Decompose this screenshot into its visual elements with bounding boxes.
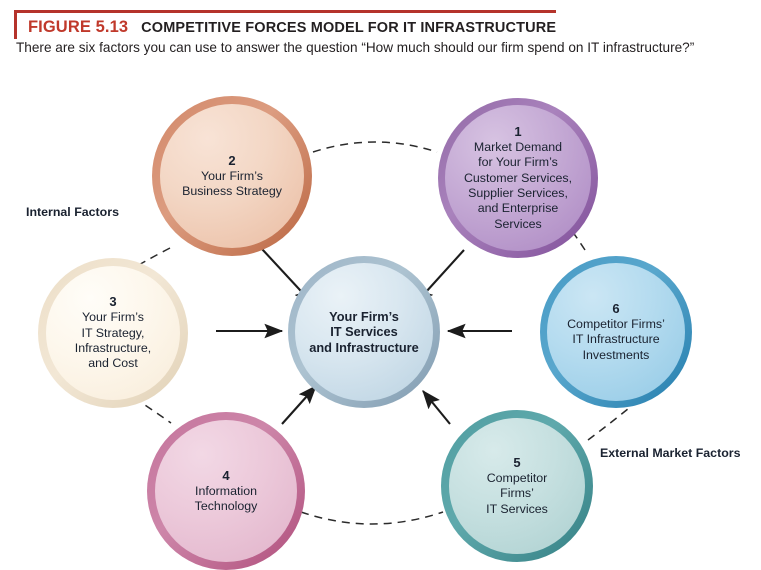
node-number: 2	[228, 153, 235, 169]
node-number: 6	[612, 301, 619, 317]
dashed-link-4-5	[301, 512, 443, 524]
node-label: Information Technology	[189, 484, 264, 515]
node-number: 5	[513, 455, 520, 471]
dashed-link-5-6	[588, 404, 634, 440]
node-competitor-it-services-body: 5 Competitor Firms’ IT Services	[449, 418, 585, 554]
competitive-forces-diagram: 1 Market Demand for Your Firm’s Customer…	[0, 0, 761, 567]
arrow-4-to-center	[282, 386, 316, 424]
internal-factors-label: Internal Factors	[26, 205, 119, 219]
node-label: Market Demand for Your Firm’s Customer S…	[458, 140, 578, 232]
node-number: 1	[514, 124, 521, 140]
node-information-technology[interactable]: 4 Information Technology	[147, 412, 305, 570]
node-number: 4	[222, 468, 229, 484]
node-information-technology-body: 4 Information Technology	[155, 420, 297, 562]
external-market-factors-label: External Market Factors	[600, 446, 740, 460]
node-business-strategy[interactable]: 2 Your Firm’s Business Strategy	[152, 96, 312, 256]
node-your-firms-it-services-and-infrastructure[interactable]: Your Firm’s IT Services and Infrastructu…	[288, 256, 440, 408]
node-number: 3	[109, 294, 116, 310]
node-label: Your Firm’s Business Strategy	[176, 169, 288, 200]
node-label: Competitor Firms’ IT Infrastructure Inve…	[561, 317, 671, 363]
node-market-demand[interactable]: 1 Market Demand for Your Firm’s Customer…	[438, 98, 598, 258]
node-competitor-firms-it-infrastructure-investments[interactable]: 6 Competitor Firms’ IT Infrastructure In…	[540, 256, 692, 408]
dashed-link-2-1	[313, 142, 437, 152]
node-center-body: Your Firm’s IT Services and Infrastructu…	[295, 263, 433, 401]
node-competitor-infrastructure-body: 6 Competitor Firms’ IT Infrastructure In…	[547, 263, 685, 401]
node-it-strategy-body: 3 Your Firm’s IT Strategy, Infrastructur…	[46, 266, 180, 400]
node-market-demand-body: 1 Market Demand for Your Firm’s Customer…	[445, 105, 591, 251]
arrow-5-to-center	[423, 391, 450, 424]
node-label: Competitor Firms’ IT Services	[480, 471, 554, 517]
node-center-label: Your Firm’s IT Services and Infrastructu…	[307, 309, 421, 356]
node-it-strategy-infrastructure-cost[interactable]: 3 Your Firm’s IT Strategy, Infrastructur…	[38, 258, 188, 408]
node-competitor-firms-it-services[interactable]: 5 Competitor Firms’ IT Services	[441, 410, 593, 562]
node-label: Your Firm’s IT Strategy, Infrastructure,…	[69, 310, 157, 372]
node-business-strategy-body: 2 Your Firm’s Business Strategy	[160, 104, 304, 248]
